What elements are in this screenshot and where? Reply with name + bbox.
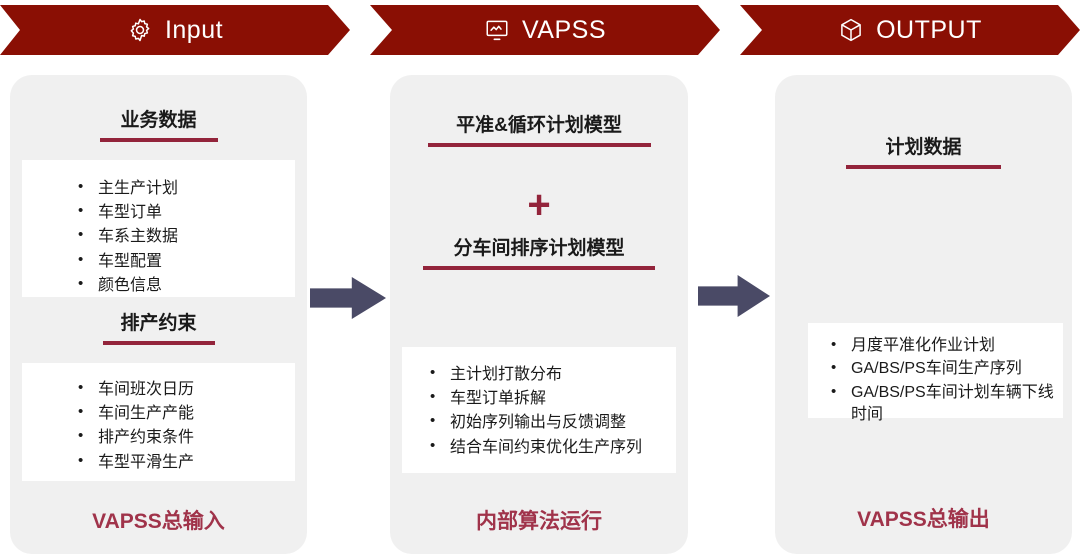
panel-output-footer: VAPSS总输出: [775, 503, 1072, 533]
model-title-workshop-sequencing-plan: 分车间排序计划模型: [390, 238, 688, 270]
process-banner-row: Input VAPSS OUTPUT: [0, 5, 1080, 55]
list-item: 车型配置: [72, 250, 295, 273]
cube-icon: [838, 17, 864, 43]
algorithm-steps-list: 主计划打散分布 车型订单拆解 初始序列输出与反馈调整 结合车间约束优化生产序列: [402, 347, 676, 459]
section-title-business-data-text: 业务数据: [120, 110, 196, 131]
banner-vapss-label: VAPSS: [522, 18, 606, 43]
banner-output-label: OUTPUT: [876, 18, 982, 43]
business-data-box: 主生产计划 车型订单 车系主数据 车型配置 颜色信息: [22, 160, 295, 297]
list-item: 主计划打散分布: [424, 363, 676, 386]
title-underline: [846, 165, 1001, 169]
list-item: GA/BS/PS车间生产序列: [825, 358, 1063, 380]
banner-vapss[interactable]: VAPSS: [370, 5, 720, 55]
model-title-leveling-cyclic-plan-text: 平准&循环计划模型: [456, 115, 622, 136]
plus-symbol: +: [390, 185, 688, 225]
model-title-workshop-sequencing-plan-text: 分车间排序计划模型: [453, 238, 624, 259]
right-arrow-icon: [310, 277, 386, 319]
gear-icon: [127, 17, 153, 43]
panel-input: 业务数据 主生产计划 车型订单 车系主数据 车型配置 颜色信息 排产约束 车间班…: [10, 75, 307, 554]
list-item: GA/BS/PS车间计划车辆下线时间: [825, 382, 1063, 427]
production-constraints-box: 车间班次日历 车间生产产能 排产约束条件 车型平滑生产: [22, 363, 295, 481]
banner-output[interactable]: OUTPUT: [740, 5, 1080, 55]
title-underline: [423, 266, 655, 270]
section-title-plan-data-text: 计划数据: [885, 137, 961, 158]
list-item: 主生产计划: [72, 177, 295, 200]
list-item: 车型订单拆解: [424, 387, 676, 410]
banner-input-label: Input: [165, 18, 223, 43]
title-underline: [100, 138, 218, 142]
section-title-plan-data: 计划数据: [775, 137, 1072, 169]
monitor-chart-icon: [484, 17, 510, 43]
title-underline: [103, 341, 215, 345]
panel-vapss-footer: 内部算法运行: [390, 505, 688, 535]
plan-data-list: 月度平准化作业计划 GA/BS/PS车间生产序列 GA/BS/PS车间计划车辆下…: [808, 323, 1063, 427]
section-title-business-data: 业务数据: [10, 110, 307, 142]
panel-input-footer: VAPSS总输入: [10, 505, 307, 535]
algorithm-steps-box: 主计划打散分布 车型订单拆解 初始序列输出与反馈调整 结合车间约束优化生产序列: [402, 347, 676, 473]
list-item: 颜色信息: [72, 274, 295, 297]
section-title-production-constraints-text: 排产约束: [120, 313, 196, 334]
list-item: 车型订单: [72, 201, 295, 224]
list-item: 车间生产产能: [72, 402, 295, 425]
section-title-production-constraints: 排产约束: [10, 313, 307, 345]
list-item: 车间班次日历: [72, 378, 295, 401]
model-title-leveling-cyclic-plan: 平准&循环计划模型: [390, 115, 688, 147]
business-data-list: 主生产计划 车型订单 车系主数据 车型配置 颜色信息: [22, 160, 295, 297]
list-item: 排产约束条件: [72, 426, 295, 449]
panel-vapss: 平准&循环计划模型 + 分车间排序计划模型 主计划打散分布 车型订单拆解 初始序…: [390, 75, 688, 554]
title-underline: [428, 143, 651, 147]
right-arrow-icon: [698, 275, 770, 317]
list-item: 初始序列输出与反馈调整: [424, 411, 676, 434]
list-item: 结合车间约束优化生产序列: [424, 436, 676, 459]
plan-data-box: 月度平准化作业计划 GA/BS/PS车间生产序列 GA/BS/PS车间计划车辆下…: [808, 323, 1063, 418]
list-item: 车系主数据: [72, 225, 295, 248]
banner-input[interactable]: Input: [0, 5, 350, 55]
list-item: 车型平滑生产: [72, 451, 295, 474]
production-constraints-list: 车间班次日历 车间生产产能 排产约束条件 车型平滑生产: [22, 363, 295, 474]
list-item: 月度平准化作业计划: [825, 335, 1063, 357]
panel-output: 计划数据 月度平准化作业计划 GA/BS/PS车间生产序列 GA/BS/PS车间…: [775, 75, 1072, 554]
